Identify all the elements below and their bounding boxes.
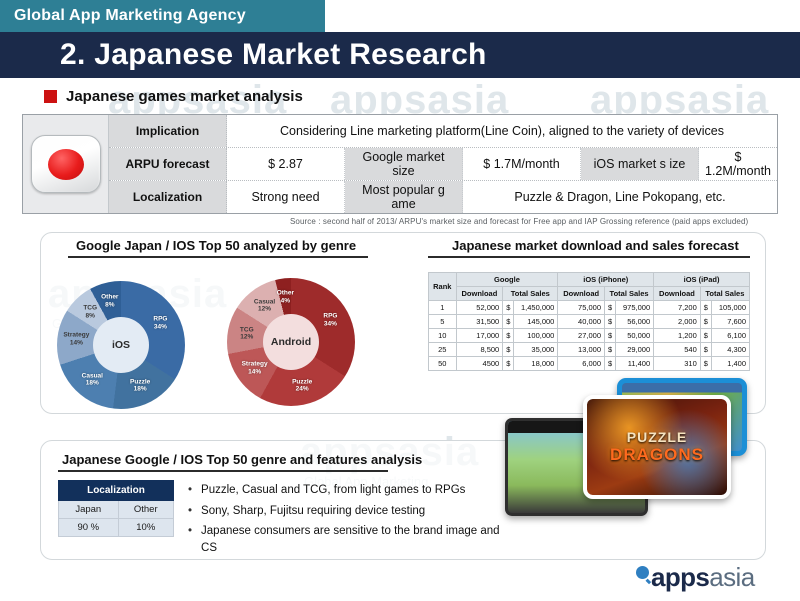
localization-table: Localization Japan Other 90 % 10% [58,480,174,537]
sub-header-total-sales: Total Sales [605,287,654,301]
localization-header-row: Localization [59,481,174,501]
ios-genre-donut-chart: iOS RPG34%Puzzle18%Casual18%Strategy14%T… [57,281,185,409]
row-label-localization: Localization [109,181,227,213]
header-ios-iphone: iOS (iPhone) [558,273,654,287]
ios-market-size-value: $ 1.2M/month [699,148,777,180]
donut-slice-label: RPG34% [323,313,337,328]
flag-red-circle [48,149,84,180]
iphone-currency-cell: $ [605,357,616,371]
logo-text-light: asia [709,562,754,593]
ipad-download-cell: 310 [654,357,701,371]
rank-cell: 50 [429,357,457,371]
iphone-currency-cell: $ [605,301,616,315]
donut-slice-label: RPG34% [153,316,167,331]
donut-slice-label: Casual18% [82,372,103,387]
table-row: Implication Considering Line marketing p… [109,115,777,148]
iphone-sales-cell: 50,000 [616,329,654,343]
table-row: 504500$18,0006,000$11,400310$1,400 [429,357,750,371]
page-title: 2. Japanese Market Research [0,38,487,72]
ipad-currency-cell: $ [700,357,711,371]
header-rank: Rank [429,273,457,301]
forecast-sub-header-row: Download Total Sales Download Total Sale… [429,287,750,301]
header-ios-ipad: iOS (iPad) [654,273,750,287]
iphone-currency-cell: $ [605,315,616,329]
rank-cell: 10 [429,329,457,343]
ipad-sales-cell: 7,600 [711,315,749,329]
list-item: •Puzzle, Casual and TCG, from light game… [188,482,518,499]
ipad-download-cell: 7,200 [654,301,701,315]
sub-header-download: Download [558,287,605,301]
google-currency-cell: $ [503,329,514,343]
google-download-cell: 31,500 [456,315,503,329]
most-popular-game-value: Puzzle & Dragon, Line Pokopang, etc. [463,181,777,213]
table-row: Localization Strong need Most popular g … [109,181,777,213]
list-item-label: Japanese consumers are sensitive to the … [201,523,518,556]
list-item: •Sony, Sharp, Fujitsu requiring device t… [188,503,518,520]
google-currency-cell: $ [503,315,514,329]
forecast-group-header-row: Rank Google iOS (iPhone) iOS (iPad) [429,273,750,287]
features-bullet-list: •Puzzle, Casual and TCG, from light game… [188,482,518,561]
implication-value: Considering Line marketing platform(Line… [227,115,777,147]
row-label-implication: Implication [109,115,227,147]
donut-slice-label: Other4% [277,290,294,305]
genre-panel-title: Google Japan / IOS Top 50 analyzed by ge… [76,238,356,253]
google-download-cell: 8,500 [456,343,503,357]
ipad-download-cell: 2,000 [654,315,701,329]
google-sales-cell: 1,450,000 [514,301,558,315]
features-title-rule [58,470,388,472]
rank-cell: 1 [429,301,457,315]
google-currency-cell: $ [503,343,514,357]
slide: appsasia appsasia appsasia appsasia apps… [0,0,800,601]
pd-title-line2: DRAGONS [610,445,704,465]
section-heading-label: Japanese games market analysis [66,88,303,105]
agency-bar: Global App Marketing Agency [0,0,325,32]
section-heading: Japanese games market analysis [44,88,303,105]
google-download-cell: 4500 [456,357,503,371]
donut-slice-label: Strategy14% [242,361,268,376]
forecast-title-rule [428,256,750,258]
google-currency-cell: $ [503,301,514,315]
ipad-sales-cell: 1,400 [711,357,749,371]
sub-header-download: Download [456,287,503,301]
table-row: 1017,000$100,00027,000$50,0001,200$6,100 [429,329,750,343]
puzzle-and-dragons-screenshot: PUZZLE DRAGONS [583,395,731,499]
google-download-cell: 52,000 [456,301,503,315]
genre-title-rule [68,256,368,258]
iphone-sales-cell: 975,000 [616,301,654,315]
market-summary-table: Implication Considering Line marketing p… [22,114,778,214]
agency-label: Global App Marketing Agency [0,7,246,25]
ipad-download-cell: 540 [654,343,701,357]
google-market-size-value: $ 1.7M/month [463,148,581,180]
forecast-table: Rank Google iOS (iPhone) iOS (iPad) Down… [428,272,750,371]
google-market-size-label: Google market size [345,148,463,180]
iphone-download-cell: 40,000 [558,315,605,329]
donut-slice-label: TCG8% [83,305,97,320]
title-bar: 2. Japanese Market Research [0,32,800,78]
red-square-icon [44,90,57,103]
ipad-currency-cell: $ [700,301,711,315]
logo-text-bold: apps [651,562,709,593]
sub-header-download: Download [654,287,701,301]
google-download-cell: 17,000 [456,329,503,343]
table-row: 531,500$145,00040,000$56,0002,000$7,600 [429,315,750,329]
google-sales-cell: 18,000 [514,357,558,371]
bullet-icon: • [188,523,192,556]
iphone-currency-cell: $ [605,343,616,357]
google-sales-cell: 35,000 [514,343,558,357]
ios-donut-ring: iOS RPG34%Puzzle18%Casual18%Strategy14%T… [57,281,185,409]
ios-market-size-label: iOS market s ize [581,148,699,180]
summary-rows: Implication Considering Line marketing p… [109,115,777,213]
localization-need-value: Strong need [227,181,345,213]
iphone-download-cell: 13,000 [558,343,605,357]
iphone-sales-cell: 29,000 [616,343,654,357]
localization-value-japan: 90 % [59,519,119,537]
ipad-download-cell: 1,200 [654,329,701,343]
localization-value-row: 90 % 10% [59,519,174,537]
ipad-sales-cell: 6,100 [711,329,749,343]
iphone-download-cell: 27,000 [558,329,605,343]
bullet-icon: • [188,503,192,520]
appsasia-logo: apps asia [636,562,755,593]
ipad-currency-cell: $ [700,343,711,357]
localization-value-other: 10% [118,519,173,537]
arpu-value: $ 2.87 [227,148,345,180]
puzzle-dragons-screen: PUZZLE DRAGONS [587,399,727,495]
forecast-table-body: 152,000$1,450,00075,000$975,0007,200$105… [429,301,750,371]
forecast-table-head: Rank Google iOS (iPhone) iOS (iPad) Down… [429,273,750,301]
row-label-arpu: ARPU forecast [109,148,227,180]
source-note: Source : second half of 2013/ ARPU's mar… [290,217,748,226]
android-donut-center-label: Android [263,314,319,370]
iphone-sales-cell: 11,400 [616,357,654,371]
pd-title-line1: PUZZLE [627,429,687,445]
donut-slice-label: Casual12% [254,298,275,313]
list-item-label: Puzzle, Casual and TCG, from light games… [201,482,465,499]
iphone-download-cell: 6,000 [558,357,605,371]
most-popular-game-label: Most popular g ame [345,181,463,213]
table-row: 152,000$1,450,00075,000$975,0007,200$105… [429,301,750,315]
sub-header-total-sales: Total Sales [700,287,749,301]
magnifier-icon [636,566,649,579]
android-donut-ring: Android RPG34%Puzzle24%Strategy14%TCG12%… [227,278,355,406]
list-item: •Japanese consumers are sensitive to the… [188,523,518,556]
bullet-icon: • [188,482,192,499]
localization-col-other: Other [118,501,173,519]
donut-slice-label: Other8% [101,294,118,309]
localization-col-row: Japan Other [59,501,174,519]
header-google: Google [456,273,558,287]
iphone-sales-cell: 56,000 [616,315,654,329]
google-sales-cell: 145,000 [514,315,558,329]
ipad-currency-cell: $ [700,329,711,343]
iphone-download-cell: 75,000 [558,301,605,315]
donut-slice-label: Puzzle24% [292,378,312,393]
ipad-sales-cell: 105,000 [711,301,749,315]
donut-slice-label: Puzzle18% [130,378,150,393]
japan-flag-cell [23,115,109,213]
features-panel-title: Japanese Google / IOS Top 50 genre and f… [62,452,422,467]
donut-slice-label: Strategy14% [63,332,89,347]
donut-slice-label: TCG12% [240,326,254,341]
rank-cell: 25 [429,343,457,357]
table-row: 258,500$35,00013,000$29,000540$4,300 [429,343,750,357]
google-sales-cell: 100,000 [514,329,558,343]
iphone-currency-cell: $ [605,329,616,343]
sub-header-total-sales: Total Sales [503,287,558,301]
japan-flag-icon [31,135,101,193]
localization-col-japan: Japan [59,501,119,519]
game-screenshots: PUZZLE DRAGONS [505,378,800,553]
list-item-label: Sony, Sharp, Fujitsu requiring device te… [201,503,425,520]
ipad-sales-cell: 4,300 [711,343,749,357]
forecast-panel-title: Japanese market download and sales forec… [452,238,739,253]
localization-header: Localization [59,481,174,501]
rank-cell: 5 [429,315,457,329]
table-row: ARPU forecast $ 2.87 Google market size … [109,148,777,181]
android-genre-donut-chart: Android RPG34%Puzzle24%Strategy14%TCG12%… [227,278,355,406]
ios-donut-center-label: iOS [93,317,149,373]
ipad-currency-cell: $ [700,315,711,329]
google-currency-cell: $ [503,357,514,371]
